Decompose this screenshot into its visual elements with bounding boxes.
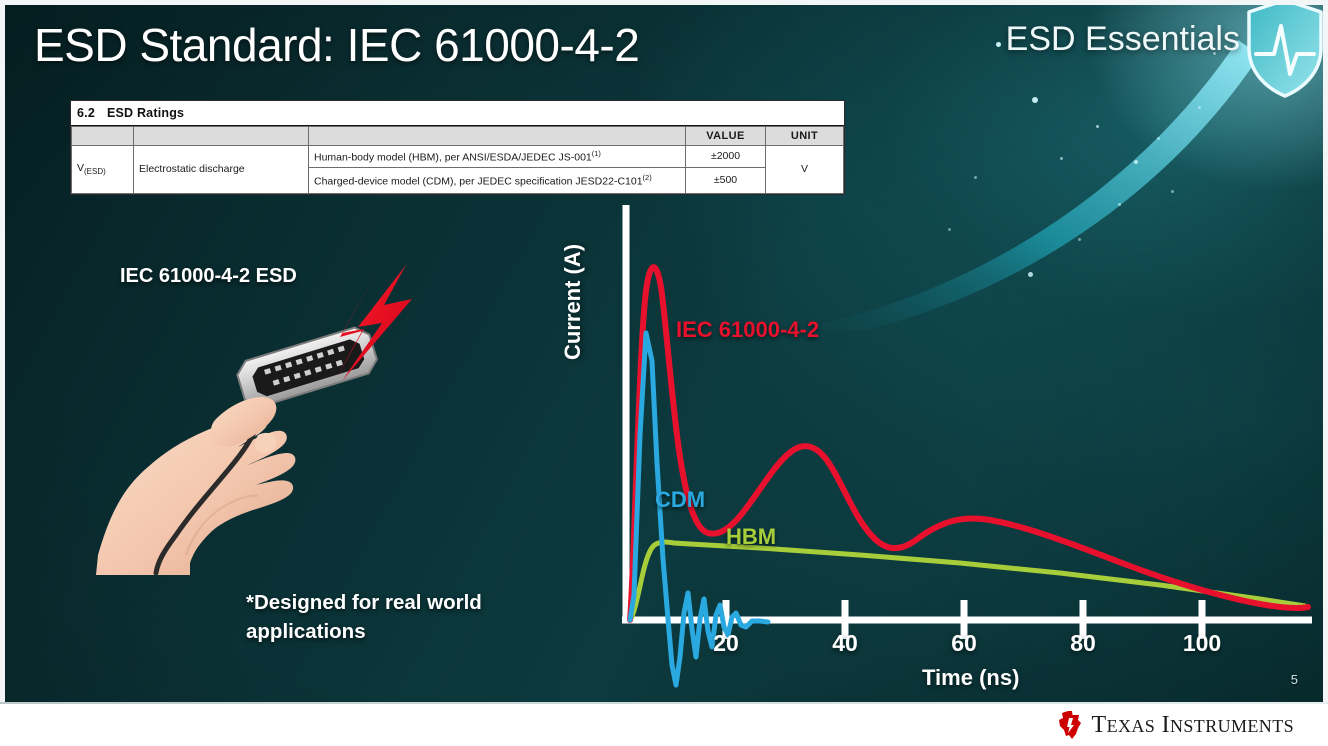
cell-description: Human-body model (HBM), per ANSI/ESDA/JE… xyxy=(309,146,686,168)
series-label-hbm: HBM xyxy=(726,524,776,550)
slide-number: 5 xyxy=(1291,672,1298,687)
hand-holding-hdmi-connector-icon xyxy=(90,255,450,575)
shield-pulse-icon xyxy=(1244,0,1326,100)
series-label-iec: IEC 61000-4-2 xyxy=(676,317,819,343)
header-description xyxy=(309,127,686,146)
illustration-note: *Designed for real world applications xyxy=(246,588,556,646)
chart-xtick-100: 100 xyxy=(1183,630,1221,657)
symbol-sub: (ESD) xyxy=(84,167,106,176)
header-unit: UNIT xyxy=(766,127,844,146)
chart-xtick-60: 60 xyxy=(951,630,977,657)
series-label-cdm: CDM xyxy=(655,487,705,513)
texas-instruments-logo-icon xyxy=(1057,710,1083,740)
presentation-slide: ESD Standard: IEC 61000-4-2 ESD Essentia… xyxy=(0,0,1328,746)
row0-description: Human-body model (HBM), per ANSI/ESDA/JE… xyxy=(314,152,592,164)
table-caption: 6.2ESD Ratings xyxy=(71,101,844,126)
chart-xtick-20: 20 xyxy=(713,630,739,657)
logo-i: I xyxy=(1162,712,1170,738)
header-value: VALUE xyxy=(686,127,766,146)
table-row: V(ESD) Electrostatic discharge Human-bod… xyxy=(72,146,844,168)
table-caption-number: 6.2 xyxy=(77,106,95,120)
header-symbol xyxy=(72,127,134,146)
cell-value: ±2000 xyxy=(686,146,766,168)
row1-description: Charged-device model (CDM), per JEDEC sp… xyxy=(314,175,643,187)
logo-t: T xyxy=(1092,712,1107,738)
page-title: ESD Standard: IEC 61000-4-2 xyxy=(34,18,639,72)
cell-value: ±500 xyxy=(686,167,766,193)
cell-symbol: V(ESD) xyxy=(72,146,134,194)
chart-xtick-40: 40 xyxy=(832,630,858,657)
texas-instruments-wordmark: TEXAS INSTRUMENTS xyxy=(1092,712,1295,739)
cell-parameter: Electrostatic discharge xyxy=(134,146,309,194)
chart-xtick-80: 80 xyxy=(1070,630,1096,657)
symbol-main: V xyxy=(77,162,84,174)
table-caption-text: ESD Ratings xyxy=(107,106,184,120)
cell-unit: V xyxy=(766,146,844,194)
esd-ratings-table: 6.2ESD Ratings VALUE UNIT V(ESD) Electro… xyxy=(70,100,845,195)
texas-instruments-logo: TEXAS INSTRUMENTS xyxy=(1057,710,1295,740)
cell-description: Charged-device model (CDM), per JEDEC sp… xyxy=(309,167,686,193)
row0-footnote: (1) xyxy=(592,149,601,158)
row1-footnote: (2) xyxy=(643,173,652,182)
logo-exas: EXAS xyxy=(1107,716,1156,736)
logo-nstruments: NSTRUMENTS xyxy=(1170,716,1294,736)
header-parameter xyxy=(134,127,309,146)
brand-label: ESD Essentials xyxy=(1006,20,1240,59)
table-header-row: VALUE UNIT xyxy=(72,127,844,146)
esd-waveform-chart xyxy=(560,195,1320,695)
